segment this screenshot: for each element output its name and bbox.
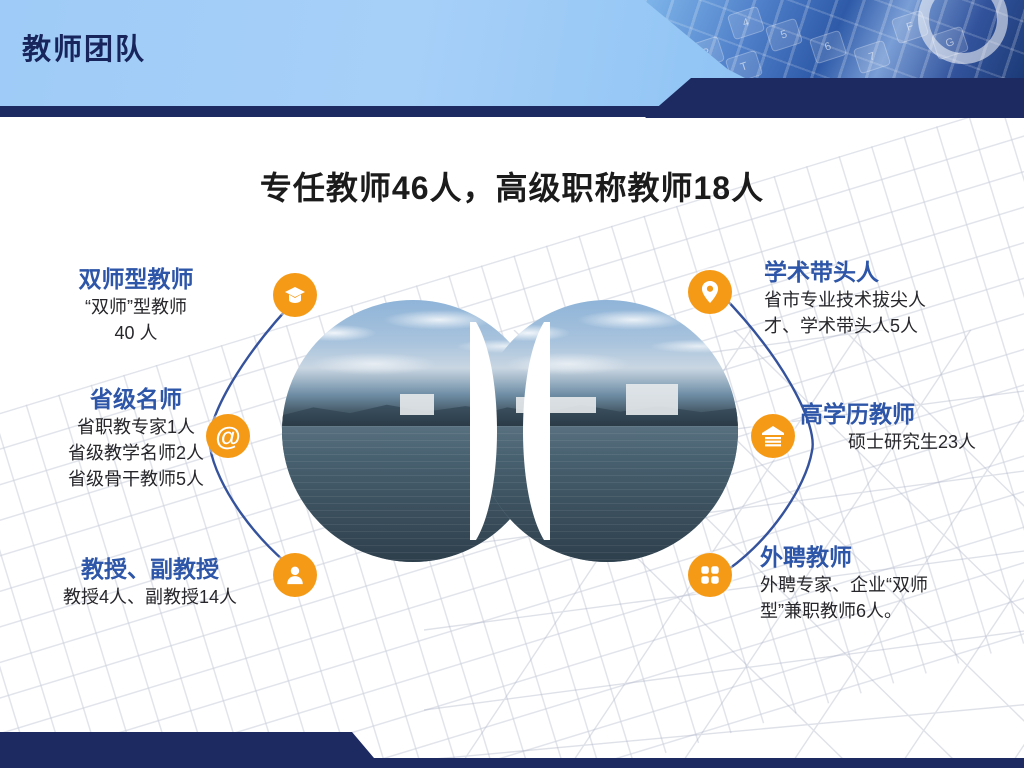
footer-band bbox=[0, 712, 1024, 768]
info-block-jiaoshou: 教授、副教授 教授4人、副教授14人 bbox=[18, 555, 282, 610]
bank-building-icon[interactable] bbox=[751, 414, 795, 458]
block-title: 省级名师 bbox=[18, 385, 254, 414]
info-block-xueshu-daitouren: 学术带头人 省市专业技术拔尖人 才、学术带头人5人 bbox=[764, 258, 1012, 339]
block-title: 学术带头人 bbox=[764, 258, 1012, 287]
page-title: 教师团队 bbox=[22, 26, 146, 68]
campus-photo-right bbox=[476, 300, 738, 562]
block-title: 教授、副教授 bbox=[18, 555, 282, 584]
info-block-shuangshi: 双师型教师 “双师”型教师 40 人 bbox=[18, 265, 254, 346]
block-title: 双师型教师 bbox=[18, 265, 254, 294]
info-block-gaoxueli: 高学历教师 硕士研究生23人 bbox=[800, 400, 1024, 455]
block-line: 外聘专家、企业“双师 bbox=[760, 572, 1024, 598]
slide-canvas: 4 5 6 7 R T E F G 教师团队 专任教师46人，高级职称教师18人 bbox=[0, 0, 1024, 768]
grid-apps-icon[interactable] bbox=[688, 553, 732, 597]
info-block-shengji-mingshi: 省级名师 省职教专家1人 省级教学名师2人 省级骨干教师5人 bbox=[18, 385, 254, 492]
block-line: 省级骨干教师5人 bbox=[18, 466, 254, 492]
block-line: 教授4人、副教授14人 bbox=[18, 584, 282, 610]
block-line: 省职教专家1人 bbox=[18, 414, 254, 440]
header-diagonal-accent bbox=[645, 78, 1024, 118]
location-pin-icon[interactable] bbox=[688, 270, 732, 314]
block-line: 省市专业技术拔尖人 bbox=[764, 287, 1012, 313]
graduation-cap-icon[interactable] bbox=[273, 273, 317, 317]
info-block-waipin: 外聘教师 外聘专家、企业“双师 型”兼职教师6人。 bbox=[760, 543, 1024, 624]
block-title: 外聘教师 bbox=[760, 543, 1024, 572]
block-line: 40 人 bbox=[18, 320, 254, 346]
center-photo-group bbox=[282, 300, 738, 562]
main-heading: 专任教师46人，高级职称教师18人 bbox=[0, 163, 1024, 209]
block-line: 才、学术带头人5人 bbox=[764, 313, 1012, 339]
block-line: 省级教学名师2人 bbox=[18, 440, 254, 466]
block-title: 高学历教师 bbox=[800, 400, 1024, 429]
block-line: “双师”型教师 bbox=[18, 294, 254, 320]
block-line: 硕士研究生23人 bbox=[800, 429, 1024, 455]
block-line: 型”兼职教师6人。 bbox=[760, 598, 1024, 624]
